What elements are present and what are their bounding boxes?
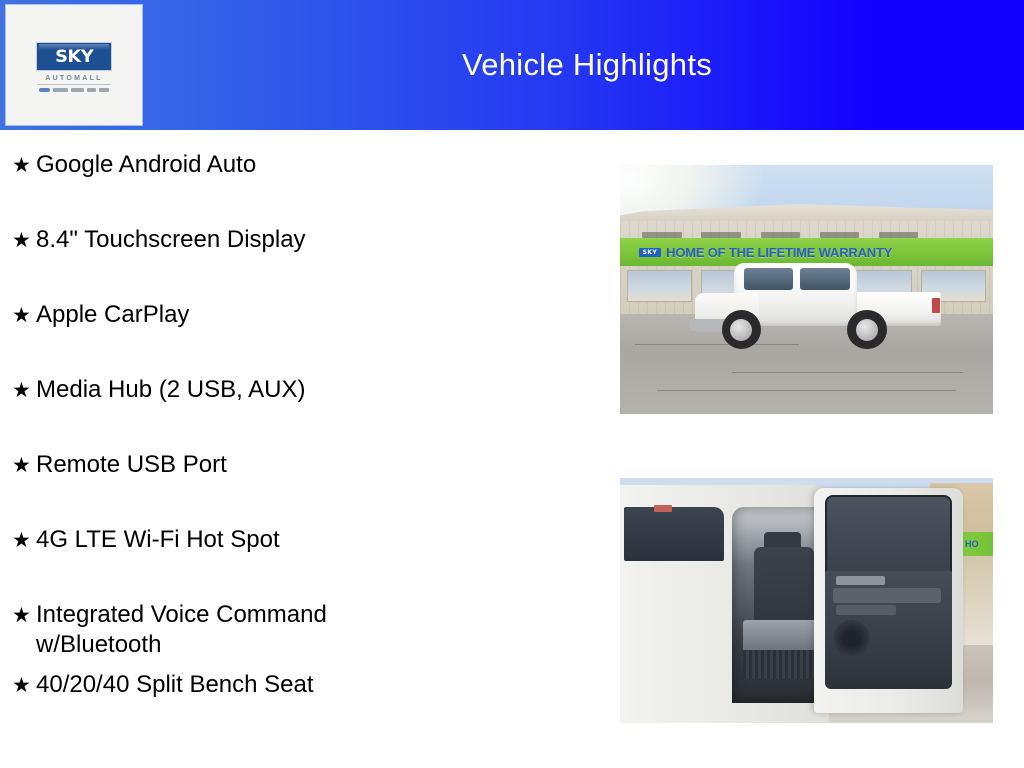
cab-rear-glass xyxy=(624,507,725,561)
door-armrest xyxy=(833,588,941,603)
banner-sky-logo-icon: SKY xyxy=(639,248,662,257)
vehicle-interior-photo: SKY HO xyxy=(620,478,993,723)
brand-logos-row xyxy=(39,88,109,92)
feature-label: Remote USB Port xyxy=(36,450,227,480)
extra-brand-icon xyxy=(99,88,109,92)
banner-text: HOME OF THE LIFETIME WARRANTY xyxy=(666,245,892,260)
feature-label: Media Hub (2 USB, AUX) xyxy=(36,375,305,405)
ram-brand-icon xyxy=(87,88,96,92)
window-pane xyxy=(627,270,692,302)
list-item: ★ 4G LTE Wi-Fi Hot Spot xyxy=(0,525,600,600)
logo-divider xyxy=(37,84,111,85)
brake-light-icon xyxy=(654,505,673,512)
dealer-logo: SKY AUTOMALL xyxy=(36,42,112,92)
star-bullet-icon: ★ xyxy=(12,300,36,330)
star-bullet-icon: ★ xyxy=(12,150,36,180)
pavement-crack xyxy=(657,390,955,391)
feature-label: 4G LTE Wi-Fi Hot Spot xyxy=(36,525,280,555)
front-window xyxy=(744,268,793,290)
rear-wheel xyxy=(847,310,886,349)
vehicle-highlights-list: ★ Google Android Auto ★ 8.4" Touchscreen… xyxy=(0,150,600,745)
ram-sign-icon xyxy=(820,232,860,238)
feature-label: 8.4" Touchscreen Display xyxy=(36,225,306,255)
star-bullet-icon: ★ xyxy=(12,375,36,405)
pavement-crack xyxy=(732,372,963,373)
door-pull-handle xyxy=(836,605,896,615)
star-bullet-icon: ★ xyxy=(12,450,36,480)
feature-label: 40/20/40 Split Bench Seat xyxy=(36,670,314,700)
feature-label: Google Android Auto xyxy=(36,150,256,180)
dodge-sign-icon xyxy=(701,232,741,238)
chrysler-brand-icon xyxy=(39,88,50,92)
star-bullet-icon: ★ xyxy=(12,670,36,700)
list-item: ★ Apple CarPlay xyxy=(0,300,600,375)
chrysler-sign-icon xyxy=(642,232,682,238)
list-item: ★ Media Hub (2 USB, AUX) xyxy=(0,375,600,450)
automall-subtitle: AUTOMALL xyxy=(45,75,103,82)
page-title: Vehicle Highlights xyxy=(150,0,1024,130)
star-bullet-icon: ★ xyxy=(12,600,36,630)
window-switch-panel xyxy=(836,576,884,585)
sky-sign-icon xyxy=(879,232,919,238)
split-bench-seat-base xyxy=(743,620,821,652)
vehicle-exterior-photo: SKY HOME OF THE LIFETIME WARRANTY xyxy=(620,165,993,414)
rear-window xyxy=(800,268,849,290)
taillight xyxy=(932,298,939,313)
sky-wordmark: SKY xyxy=(55,47,93,67)
pickup-truck xyxy=(695,260,941,345)
dodge-brand-icon xyxy=(53,88,68,92)
jeep-brand-icon xyxy=(71,88,84,92)
door-speaker-icon xyxy=(833,620,870,657)
star-bullet-icon: ★ xyxy=(12,225,36,255)
slide-header: Vehicle Highlights xyxy=(0,0,1024,130)
feature-label: Apple CarPlay xyxy=(36,300,189,330)
door-window-glass xyxy=(825,495,952,576)
pavement-crack xyxy=(635,344,799,345)
front-wheel xyxy=(722,310,761,349)
jeep-sign-icon xyxy=(761,232,801,238)
list-item: ★ Integrated Voice Command w/Bluetooth xyxy=(0,600,600,670)
sky-logo-icon: SKY xyxy=(36,42,112,71)
floor-mat xyxy=(743,650,825,679)
list-item: ★ Google Android Auto xyxy=(0,150,600,225)
star-bullet-icon: ★ xyxy=(12,525,36,555)
list-item: ★ 8.4" Touchscreen Display xyxy=(0,225,600,300)
list-item: ★ Remote USB Port xyxy=(0,450,600,525)
dealer-logo-card: SKY AUTOMALL xyxy=(6,5,142,125)
list-item: ★ 40/20/40 Split Bench Seat xyxy=(0,670,600,745)
feature-label: Integrated Voice Command w/Bluetooth xyxy=(36,600,327,660)
